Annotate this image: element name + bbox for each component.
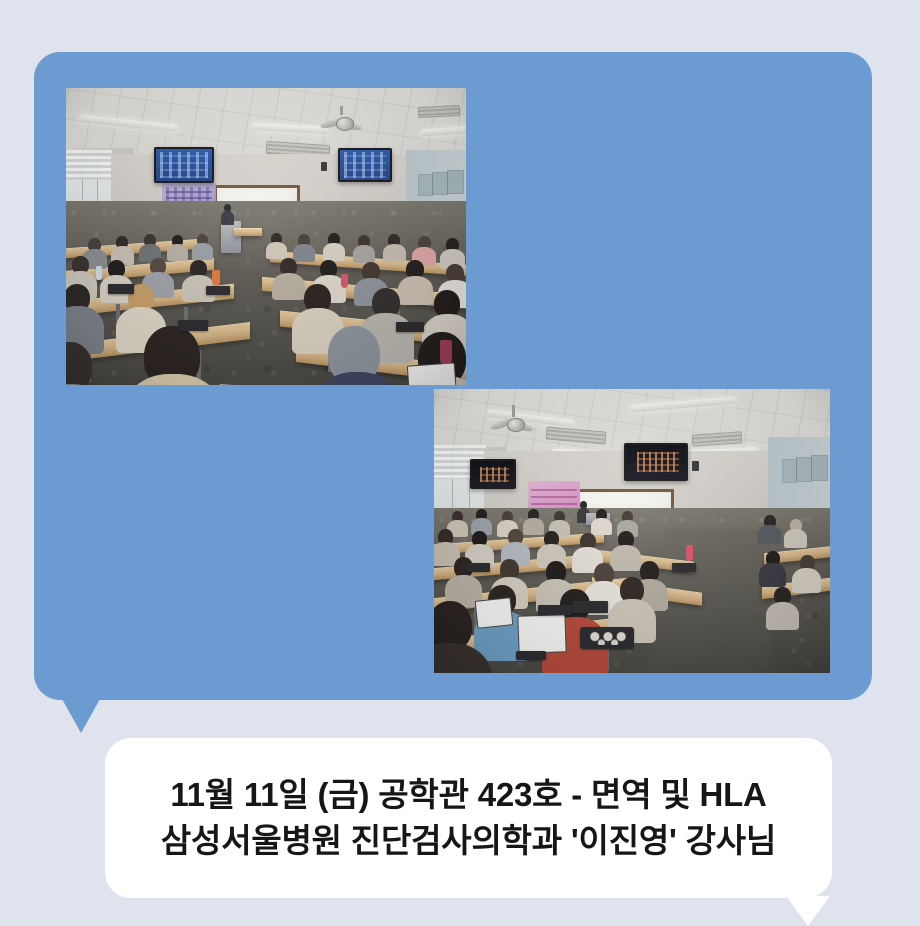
blue-speech-panel	[34, 52, 872, 700]
laptop	[572, 601, 608, 613]
tablet	[407, 362, 457, 385]
phone	[516, 651, 546, 660]
laptop	[178, 320, 208, 331]
ceiling-fan	[318, 106, 368, 140]
glass-pane	[811, 455, 828, 481]
student-body	[167, 244, 188, 261]
ceiling-vent	[418, 105, 461, 118]
student-body	[523, 518, 544, 535]
drink-cup	[212, 270, 220, 286]
caption-line-1: 11월 11일 (금) 공학관 423호 - 면역 및 HLA	[170, 775, 766, 815]
student-body	[759, 563, 786, 587]
student-body	[266, 242, 287, 259]
lecture-hall-photo-bottom	[434, 389, 830, 673]
glass-pane	[432, 172, 448, 195]
drink-cup	[440, 340, 452, 364]
student-body	[792, 568, 821, 593]
student-body	[610, 545, 641, 571]
wall-monitor-left	[470, 459, 516, 489]
student-body	[766, 602, 799, 630]
student-body	[192, 243, 213, 260]
laptop	[466, 563, 490, 572]
drink-cup	[341, 274, 348, 288]
tablet	[517, 614, 566, 654]
speech-bubble-tail	[62, 699, 100, 733]
laptop	[108, 284, 134, 294]
poster-canvas: 11월 11일 (금) 공학관 423호 - 면역 및 HLA 삼성서울병원 진…	[0, 0, 920, 920]
drink-bottle	[686, 545, 693, 561]
lecture-hall-photo-top	[66, 88, 466, 385]
wall-monitor-right	[624, 443, 688, 481]
water-bottle	[96, 266, 102, 280]
glass-pane	[796, 457, 812, 482]
student-body	[353, 245, 375, 263]
lectern	[221, 221, 241, 253]
student-body	[784, 529, 807, 548]
wall-speaker	[321, 162, 327, 171]
laptop	[396, 322, 424, 332]
caption-line-2: 삼성서울병원 진단검사의학과 '이진영' 강사님	[161, 821, 776, 861]
student-body	[293, 244, 315, 262]
tablet	[475, 597, 514, 629]
student-body	[323, 243, 345, 261]
front-table	[234, 228, 262, 236]
student-body	[591, 518, 612, 535]
wall-monitor-right	[338, 148, 392, 182]
student-body	[398, 276, 433, 305]
student-body	[272, 273, 305, 300]
student-body	[758, 525, 781, 544]
window-blind	[66, 150, 112, 180]
lecturer-body	[221, 211, 234, 225]
laptop	[538, 605, 572, 615]
laptop	[672, 563, 696, 572]
glass-pane	[447, 170, 464, 194]
caption-card: 11월 11일 (금) 공학관 423호 - 면역 및 HLA 삼성서울병원 진…	[105, 738, 832, 898]
laptop	[206, 286, 230, 295]
equipment-knobs	[586, 631, 630, 645]
student-body	[383, 244, 406, 262]
glass-pane	[782, 459, 797, 483]
caption-card-tail	[786, 896, 830, 926]
wall-speaker	[692, 461, 699, 471]
glass-pane	[418, 174, 433, 196]
wall-monitor-left	[154, 147, 214, 183]
ceiling-fan	[490, 405, 538, 441]
